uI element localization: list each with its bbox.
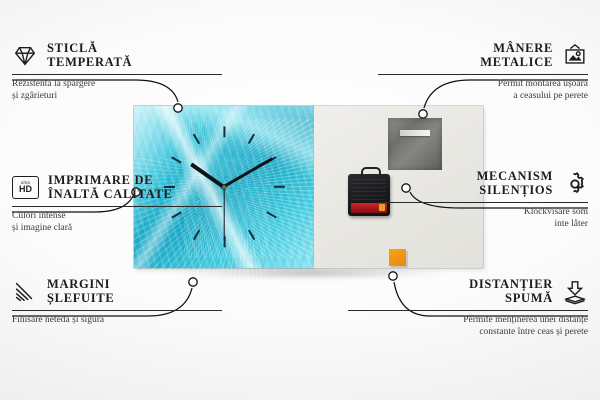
callout-rule (12, 310, 222, 311)
callout-header: MÂNEREMETALICE (378, 42, 588, 69)
callout-title: STICLĂTEMPERATĂ (47, 42, 132, 69)
clock-center-hub (222, 185, 226, 189)
clock-second-hand (223, 187, 224, 239)
callout-title: IMPRIMARE DEÎNALTĂ CALITATE (48, 174, 173, 201)
callout-subtitle: Rezistentă la spargereși zgârieturi (12, 79, 222, 102)
press-pad-icon (562, 279, 588, 305)
diamond-icon (12, 43, 38, 69)
foam-spacer-pad (389, 249, 406, 266)
ultra-hd-badge-large: HD (19, 185, 32, 194)
callout-rule (378, 202, 588, 203)
callout-title: MECANISMSILENȚIOS (477, 170, 553, 197)
callout-foam-spacer: DISTANȚIERSPUMĂ Permite menținerea unei … (348, 278, 588, 338)
infographic-stage: STICLĂTEMPERATĂ Rezistentă la spargereși… (0, 0, 600, 400)
callout-tempered-glass: STICLĂTEMPERATĂ Rezistentă la spargereși… (12, 42, 222, 102)
polished-edges-icon (12, 279, 38, 305)
callout-header: STICLĂTEMPERATĂ (12, 42, 222, 69)
ultra-hd-icon: ultra HD (12, 176, 39, 199)
callout-title: MARGINIȘLEFUITE (47, 278, 114, 305)
callout-silent-mechanism: MECANISMSILENȚIOS Klockvisare sominte lå… (378, 170, 588, 230)
hanger-slot (400, 130, 430, 136)
metal-hanger-plate (388, 118, 442, 170)
callout-rule (378, 74, 588, 75)
callout-header: MARGINIȘLEFUITE (12, 278, 222, 305)
callout-title: MÂNEREMETALICE (480, 42, 553, 69)
gear-icon (562, 171, 588, 197)
callout-subtitle: Klockvisare sominte låter (378, 207, 588, 230)
callout-polished-edges: MARGINIȘLEFUITE Finisare netedă și sigur… (12, 278, 222, 327)
callout-subtitle: Finisare netedă și sigură (12, 315, 222, 327)
picture-hanger-icon (562, 43, 588, 69)
callout-subtitle: Permit montarea ușoarăa ceasului pe pere… (378, 79, 588, 102)
callout-rule (12, 74, 222, 75)
callout-header: ultra HD IMPRIMARE DEÎNALTĂ CALITATE (12, 174, 222, 201)
callout-subtitle: Culori intenseși imagine clară (12, 211, 222, 234)
callout-header: MECANISMSILENȚIOS (378, 170, 588, 197)
callout-subtitle: Permite menținerea unei distanțeconstant… (348, 315, 588, 338)
callout-metal-handles: MÂNEREMETALICE Permit montarea ușoarăa c… (378, 42, 588, 102)
callout-title: DISTANȚIERSPUMĂ (469, 278, 553, 305)
clock-tick (223, 126, 225, 137)
callout-rule (348, 310, 588, 311)
clock-tick (274, 186, 285, 188)
callout-header: DISTANȚIERSPUMĂ (348, 278, 588, 305)
callout-high-quality-print: ultra HD IMPRIMARE DEÎNALTĂ CALITATE Cul… (12, 174, 222, 234)
callout-rule (12, 206, 222, 207)
